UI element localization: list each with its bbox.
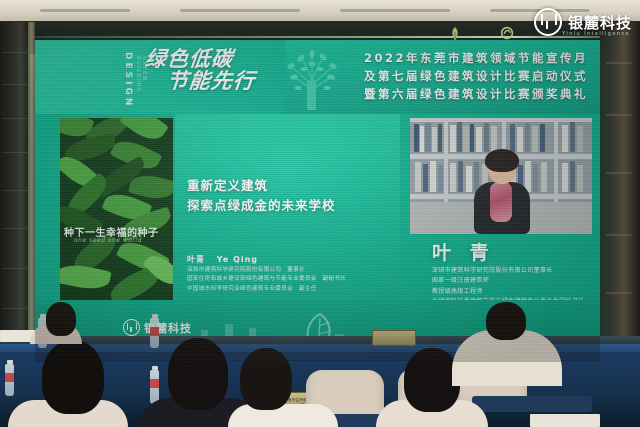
wall-rail-highlight (0, 36, 640, 38)
slide-title-line-2: 探索点绿成金的未来学校 (187, 196, 336, 216)
audience-member-shoulders (228, 404, 338, 427)
speaker-figure (472, 152, 532, 234)
speaker-hair (485, 149, 519, 172)
watermark-brand: 银麓科技 (568, 12, 632, 33)
slide-speaker-en: Ye Qing (217, 255, 258, 264)
left-pillar (0, 22, 30, 352)
foliage-photo-caption-en: one seed one world (74, 237, 170, 244)
paper-sheet (530, 414, 600, 427)
slide-credential-1: 深圳市建筑科学研究院股份有限公司 董事长 (187, 266, 346, 275)
audience-member-head (42, 340, 104, 414)
event-title-block: 2022年东莞市建筑领域节能宣传月 及第七届绿色建筑设计比赛启动仪式 暨第六届绿… (364, 49, 588, 103)
audience-member-head (168, 338, 228, 410)
slide-speaker-line: 叶青 Ye Qing (187, 254, 258, 265)
table-name-card (372, 330, 416, 346)
audience-member-head (46, 302, 76, 336)
right-wall-column (600, 22, 640, 362)
event-title-line-1: 2022年东莞市建筑领域节能宣传月 (364, 49, 588, 67)
slide-speaker-cn: 叶青 (187, 255, 205, 264)
speaker-video-feed (410, 118, 592, 234)
speaker-credential-3: 教授级高级工程师 (432, 287, 600, 297)
chair-base (472, 396, 592, 412)
slide-credentials: 深圳市建筑科学研究院股份有限公司 董事长 国家住房和城乡建设部绿色建筑与节能专业… (187, 266, 346, 294)
audience-member-head (486, 302, 526, 340)
speaker-credential-2: 国家一级注册建筑师 (432, 276, 600, 286)
slide-credential-3: 中国城市科学研究会绿色建筑专业委员会 副主任 (187, 285, 346, 294)
watermark: 银麓科技 Yinlu Intelligence (534, 8, 632, 36)
screen-banner: DESIGN GREEN BUILDING 绿色低碳 节能先行 (35, 40, 600, 114)
tree-graphic-icon (273, 44, 351, 114)
foliage-photo: 种下一生幸福的种子 one seed one world (60, 118, 173, 300)
water-bottle (5, 364, 14, 396)
yinlu-logo-icon (123, 319, 140, 336)
speaker-scarf (490, 182, 512, 222)
speaker-name: 叶 青 (432, 238, 495, 265)
left-pillar-edge (28, 22, 35, 352)
water-bottle (150, 318, 159, 348)
screenshot-stage: 广东省建筑节能协会 广东省建设科技与标准化协会 DESIGN GREEN BUI… (0, 0, 640, 427)
watermark-subtitle: Yinlu Intelligence (562, 31, 630, 37)
slide-title: 重新定义建筑 探索点绿成金的未来学校 (187, 176, 336, 216)
event-title-line-3: 暨第六届绿色建筑设计比赛颁奖典礼 (364, 85, 588, 103)
event-title-line-2: 及第七届绿色建筑设计比赛启动仪式 (364, 67, 588, 85)
audience-member-head (240, 348, 292, 410)
design-vertical-label: DESIGN (123, 52, 133, 108)
speaker-credential-1: 深圳市建筑科学研究院股份有限公司董事长 (432, 266, 600, 276)
slide-credential-2: 国家住房和城乡建设部绿色建筑与节能专业委员会 副秘书长 (187, 275, 346, 284)
yinlu-logo-icon (534, 8, 562, 36)
water-bottle (150, 370, 159, 404)
slide-title-line-1: 重新定义建筑 (187, 176, 336, 196)
